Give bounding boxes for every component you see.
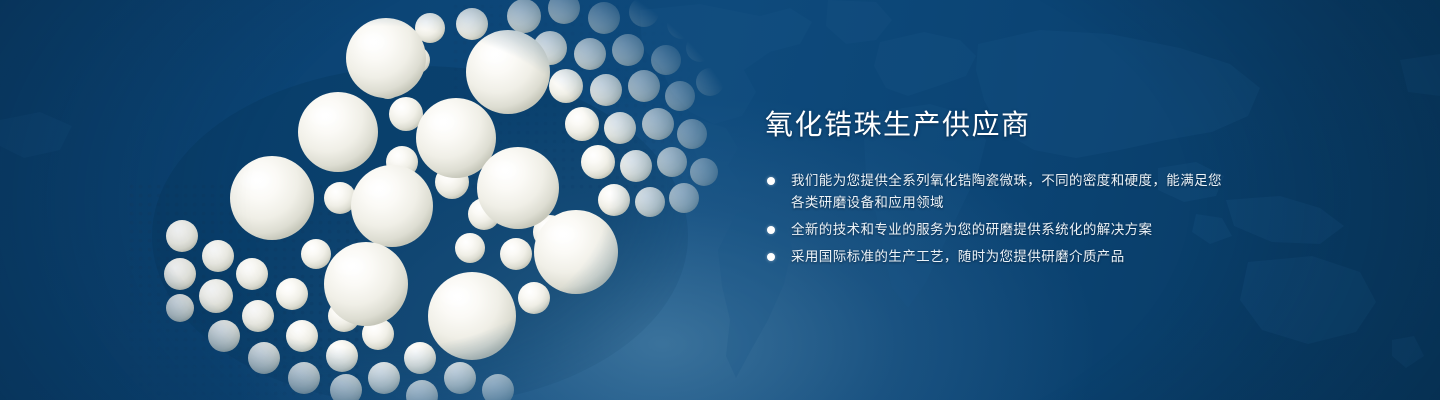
feature-list: 我们能为您提供全系列氧化锆陶瓷微珠，不同的密度和硬度，能满足您各类研磨设备和应用… (765, 170, 1235, 268)
dot-bullet-icon (767, 226, 775, 234)
dot-bullet-icon (767, 177, 775, 185)
feature-text: 我们能为您提供全系列氧化锆陶瓷微珠，不同的密度和硬度，能满足您各类研磨设备和应用… (791, 170, 1235, 214)
zirconia-beads-photo (120, 0, 730, 400)
list-item: 我们能为您提供全系列氧化锆陶瓷微珠，不同的密度和硬度，能满足您各类研磨设备和应用… (765, 170, 1235, 214)
banner-headline: 氧化锆珠生产供应商 (765, 108, 1235, 142)
hero-banner: 氧化锆珠生产供应商 我们能为您提供全系列氧化锆陶瓷微珠，不同的密度和硬度，能满足… (0, 0, 1440, 400)
feature-text: 全新的技术和专业的服务为您的研磨提供系统化的解决方案 (791, 219, 1235, 241)
list-item: 采用国际标准的生产工艺，随时为您提供研磨介质产品 (765, 246, 1235, 268)
banner-copy: 氧化锆珠生产供应商 我们能为您提供全系列氧化锆陶瓷微珠，不同的密度和硬度，能满足… (765, 108, 1235, 268)
dot-bullet-icon (767, 253, 775, 261)
feature-text: 采用国际标准的生产工艺，随时为您提供研磨介质产品 (791, 246, 1235, 268)
list-item: 全新的技术和专业的服务为您的研磨提供系统化的解决方案 (765, 219, 1235, 241)
